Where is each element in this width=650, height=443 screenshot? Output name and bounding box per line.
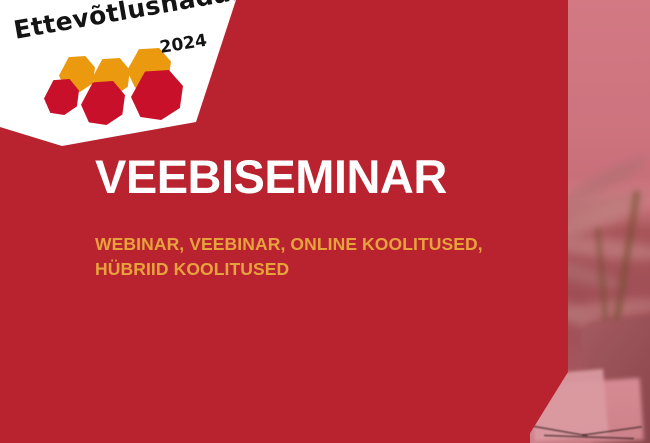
subtitle-line-2: HÜBRIID KOOLITUSED xyxy=(95,257,585,282)
page-title: VEEBISEMINAR xyxy=(95,152,447,201)
webinar-promo-banner: Ettevõtlusnädal 2024 VEEBISEMINAR WEBINA… xyxy=(0,0,650,443)
logo-wordmark: Ettevõtlusnädal xyxy=(11,0,241,45)
hex-red-middle-icon xyxy=(81,81,125,125)
logo-hexagon-cluster xyxy=(55,48,205,118)
hex-red-left-icon xyxy=(44,79,79,115)
subtitle-line-1: WEBINAR, VEEBINAR, ONLINE KOOLITUSED, xyxy=(95,232,585,257)
subtitle: WEBINAR, VEEBINAR, ONLINE KOOLITUSED, HÜ… xyxy=(95,232,585,283)
